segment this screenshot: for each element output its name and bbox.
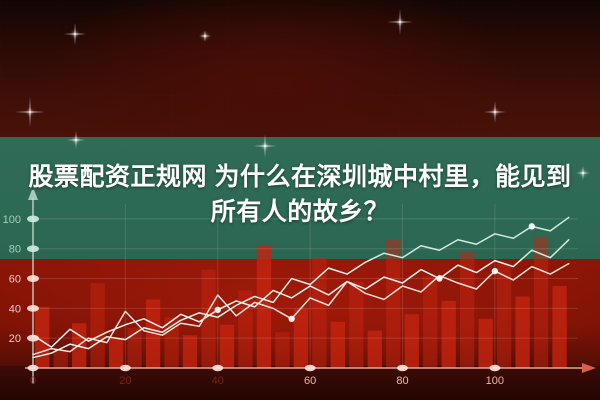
plot-area [33, 204, 578, 368]
bar [109, 338, 123, 368]
bar [423, 276, 437, 368]
x-tick-marker [305, 365, 316, 371]
bar [478, 319, 492, 368]
y-tick-marker [27, 335, 39, 342]
bar [183, 335, 197, 368]
x-tick-marker [397, 365, 408, 371]
bar [368, 331, 382, 368]
bar [91, 283, 105, 368]
background-texture-horizontal [0, 0, 600, 140]
bar [275, 332, 289, 368]
y-tick-marker [27, 245, 39, 252]
x-axis-tick-label: 40 [212, 375, 224, 387]
chart-canvas: 20406080100020406080100 [0, 190, 600, 400]
bar [312, 258, 326, 368]
x-tick-marker [212, 365, 223, 371]
x-axis-tick-label: 80 [396, 375, 408, 387]
x-axis-tick-label: 60 [304, 375, 316, 387]
x-tick-marker [489, 365, 500, 371]
x-tick-marker [120, 365, 131, 371]
y-axis-tick-label: 100 [3, 214, 21, 226]
banner-image: 股票配资正规网 为什么在深圳城中村里，能见到 所有人的故乡？ 204060801… [0, 0, 600, 400]
bar [349, 282, 363, 368]
y-tick-marker [27, 275, 39, 282]
x-axis-arrow-icon [582, 363, 596, 373]
bar [552, 286, 566, 368]
bar [220, 325, 234, 368]
y-axis-tick-label: 60 [9, 274, 21, 286]
x-axis-tick-label: 20 [119, 375, 131, 387]
stock-chart: 20406080100020406080100 [0, 190, 600, 400]
top-background-band [0, 0, 600, 140]
bar [54, 350, 68, 368]
x-axis-tick-label: 100 [486, 375, 504, 387]
x-tick-marker [28, 365, 39, 371]
bar [405, 314, 419, 368]
x-axis-tick-label: 0 [30, 375, 36, 387]
bar [331, 322, 345, 368]
bar [386, 240, 400, 368]
bar [442, 301, 456, 368]
y-axis-tick-label: 80 [9, 244, 21, 256]
bar [515, 296, 529, 368]
bar [497, 264, 511, 368]
y-axis-tick-label: 40 [9, 303, 21, 315]
y-tick-marker [27, 305, 39, 312]
y-tick-marker [27, 216, 39, 223]
bar-series [35, 237, 567, 368]
y-axis-arrow-icon [28, 190, 38, 200]
y-axis-tick-label: 20 [9, 333, 21, 345]
